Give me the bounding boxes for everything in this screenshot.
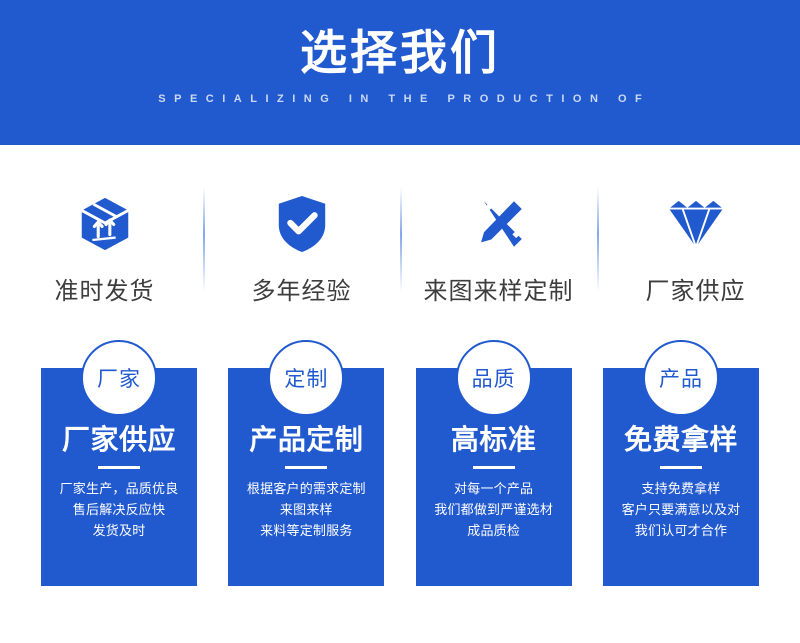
header-banner: 选择我们 SPECIALIZING IN THE PRODUCTION OF xyxy=(0,0,800,145)
page-title: 选择我们 xyxy=(300,26,500,80)
promo-banner-page: 选择我们 SPECIALIZING IN THE PRODUCTION OF 准… xyxy=(0,0,800,643)
card-divider xyxy=(285,466,327,469)
benefit-card-free-sample: 产品 免费拿样 支持免费拿样 客户只要满意以及对 我们认可才合作 xyxy=(603,368,759,586)
feature-label: 厂家供应 xyxy=(646,271,746,306)
diamond-icon xyxy=(665,193,727,255)
feature-label: 准时发货 xyxy=(55,271,155,306)
feature-item-factory-supply: 厂家供应 xyxy=(597,145,794,320)
card-description: 厂家生产，品质优良 售后解决反应快 发货及时 xyxy=(54,478,185,541)
feature-item-years-experience: 多年经验 xyxy=(203,145,400,320)
card-badge: 产品 xyxy=(643,340,719,416)
shield-check-icon xyxy=(271,193,333,255)
feature-icon-row: 准时发货 多年经验 xyxy=(0,145,800,320)
card-badge: 定制 xyxy=(268,340,344,416)
feature-label: 来图来样定制 xyxy=(424,271,574,306)
card-title: 厂家供应 xyxy=(62,424,176,456)
card-title: 免费拿样 xyxy=(624,424,738,456)
card-divider xyxy=(660,466,702,469)
benefit-card-row: 厂家 厂家供应 厂家生产，品质优良 售后解决反应快 发货及时 定制 产品定制 根… xyxy=(41,368,759,586)
card-description: 根据客户的需求定制 来图来样 来料等定制服务 xyxy=(241,478,372,541)
card-badge: 品质 xyxy=(456,340,532,416)
shipping-box-icon xyxy=(74,193,136,255)
card-divider xyxy=(98,466,140,469)
card-description: 支持免费拿样 客户只要满意以及对 我们认可才合作 xyxy=(616,478,747,541)
card-divider xyxy=(473,466,515,469)
page-subtitle: SPECIALIZING IN THE PRODUCTION OF xyxy=(150,93,650,105)
benefit-card-customization: 定制 产品定制 根据客户的需求定制 来图来样 来料等定制服务 xyxy=(228,368,384,586)
card-description: 对每一个产品 我们都做到严谨选材 成品质检 xyxy=(428,478,559,541)
card-badge: 厂家 xyxy=(81,340,157,416)
feature-item-on-time-delivery: 准时发货 xyxy=(6,145,203,320)
feature-item-custom-design: 来图来样定制 xyxy=(400,145,597,320)
benefit-card-manufacturer: 厂家 厂家供应 厂家生产，品质优良 售后解决反应快 发货及时 xyxy=(41,368,197,586)
pencil-ruler-icon xyxy=(468,193,530,255)
card-title: 产品定制 xyxy=(249,424,363,456)
benefit-card-quality: 品质 高标准 对每一个产品 我们都做到严谨选材 成品质检 xyxy=(416,368,572,586)
card-title: 高标准 xyxy=(451,424,537,456)
feature-label: 多年经验 xyxy=(252,271,352,306)
